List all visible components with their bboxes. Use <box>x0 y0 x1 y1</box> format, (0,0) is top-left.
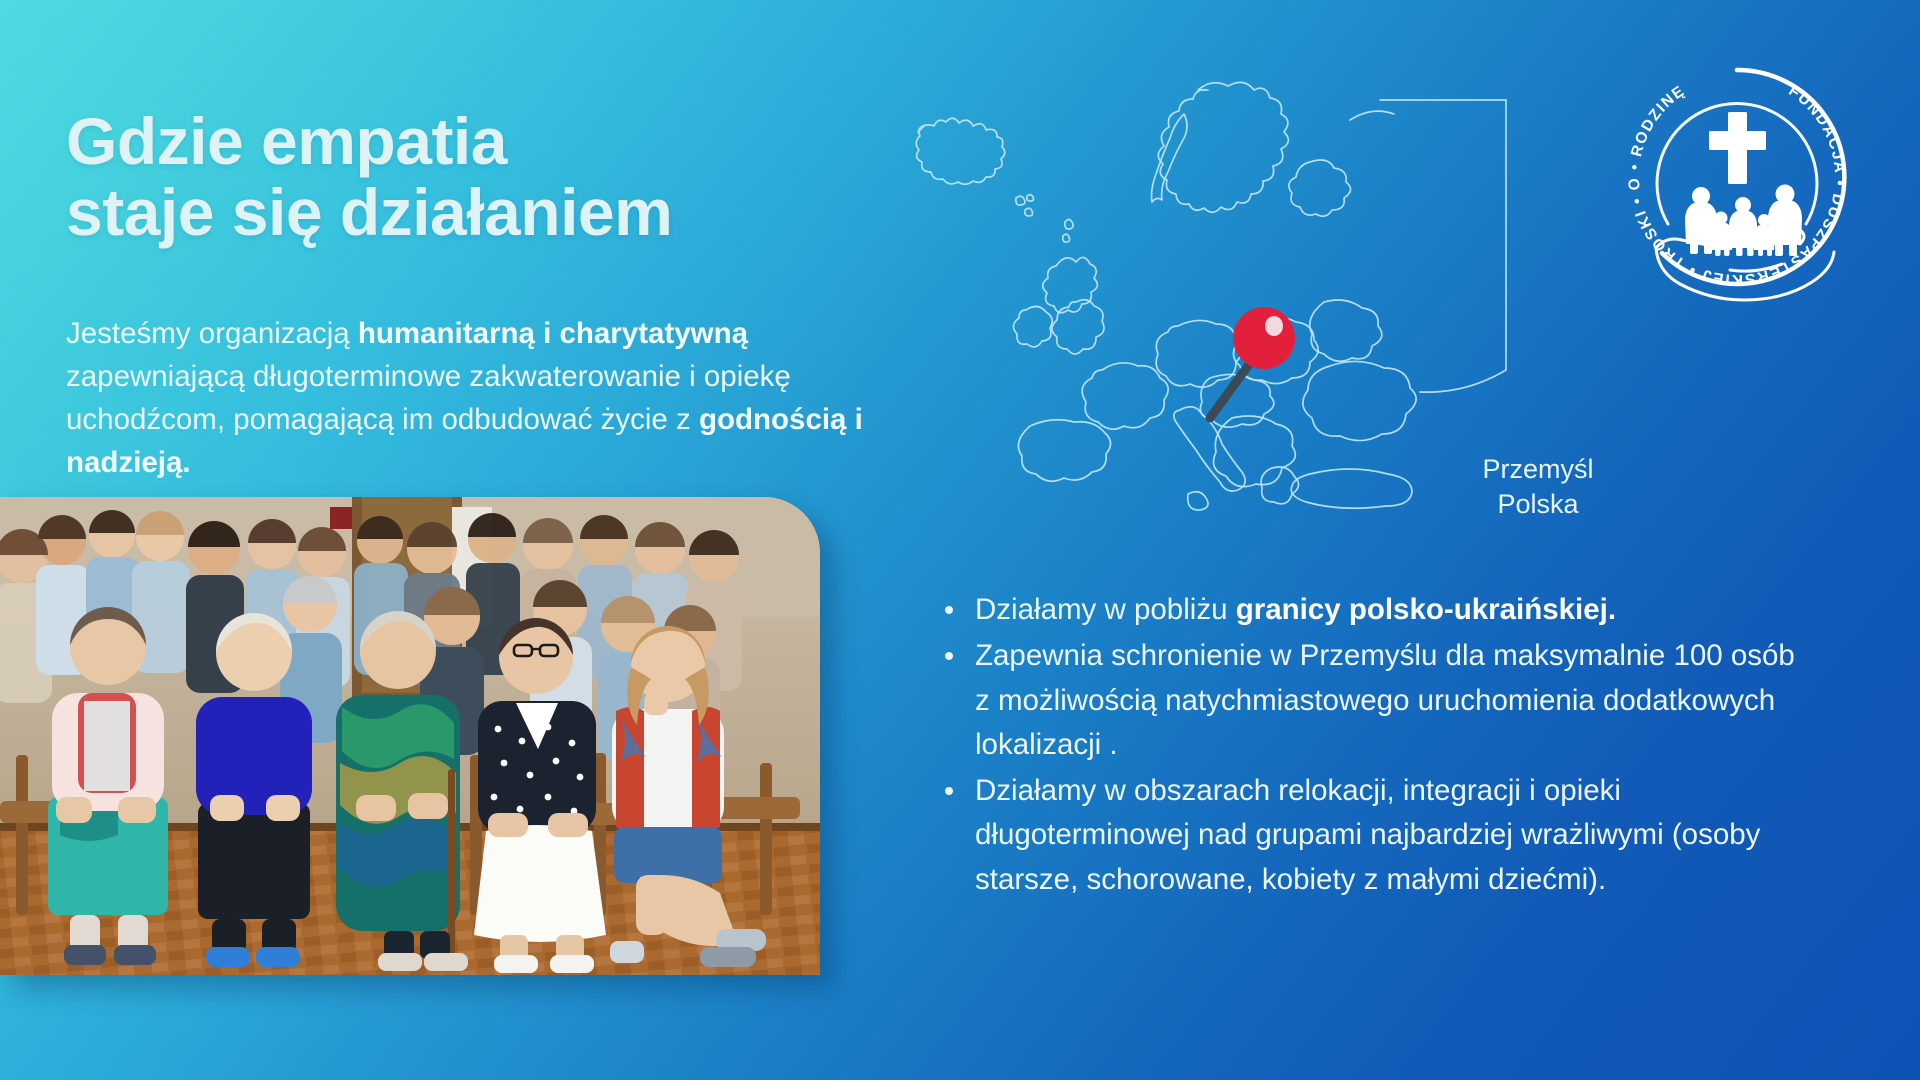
key-points-list: Działamy w pobliżu granicy polsko-ukraiń… <box>940 588 1800 904</box>
map-outline-iceland <box>916 118 1005 184</box>
page-title-line-2: staje się działaniem <box>66 177 946 248</box>
map-outline-scandinavia <box>1158 82 1288 212</box>
refugees-seated-photo <box>0 497 820 975</box>
map-outline-france <box>1082 363 1168 429</box>
intro-text-1: Jesteśmy organizacją <box>66 317 358 350</box>
map-pin <box>1210 307 1295 418</box>
intro-bold-1: humanitarną i charytatywną <box>358 317 748 350</box>
list-item: Działamy w obszarach relokacji, integrac… <box>940 769 1800 902</box>
intro-paragraph: Jesteśmy organizacją humanitarną i chary… <box>66 312 896 484</box>
foundation-logo: FUNDACJA • DUSZPASTERSKIEJ • TROSKI • O … <box>1612 52 1862 302</box>
map-outline-ukraine <box>1303 361 1416 440</box>
map-outline-russia-border <box>1380 100 1506 392</box>
map-pin-country: Polska <box>1398 487 1678 522</box>
bullet-text-bold: granicy polsko-ukraińskiej. <box>1236 593 1616 626</box>
bullet-text-plain: Działamy w pobliżu <box>975 593 1236 626</box>
map-pin-city: Przemyśl <box>1398 452 1678 487</box>
photo-inner <box>0 497 820 975</box>
page-title: Gdzie empatia staje się działaniem <box>66 106 946 249</box>
bullet-text-plain: Zapewnia schronienie w Przemyślu dla mak… <box>975 639 1795 761</box>
slide-root: Gdzie empatia staje się działaniem Jeste… <box>0 0 1920 1080</box>
bullet-text-plain: Działamy w obszarach relokacji, integrac… <box>975 774 1760 896</box>
intro-text-2: zapewniającą długoterminowe zakwaterowan… <box>66 360 791 436</box>
map-pin-label: Przemyśl Polska <box>1398 452 1678 521</box>
cross-icon <box>1709 112 1766 184</box>
page-title-line-1: Gdzie empatia <box>66 106 946 177</box>
list-item: Działamy w pobliżu granicy polsko-ukraiń… <box>940 588 1800 632</box>
map-outline-germany <box>1156 320 1242 387</box>
list-item: Zapewnia schronienie w Przemyślu dla mak… <box>940 634 1800 767</box>
map-outline-iberia <box>1018 420 1110 481</box>
